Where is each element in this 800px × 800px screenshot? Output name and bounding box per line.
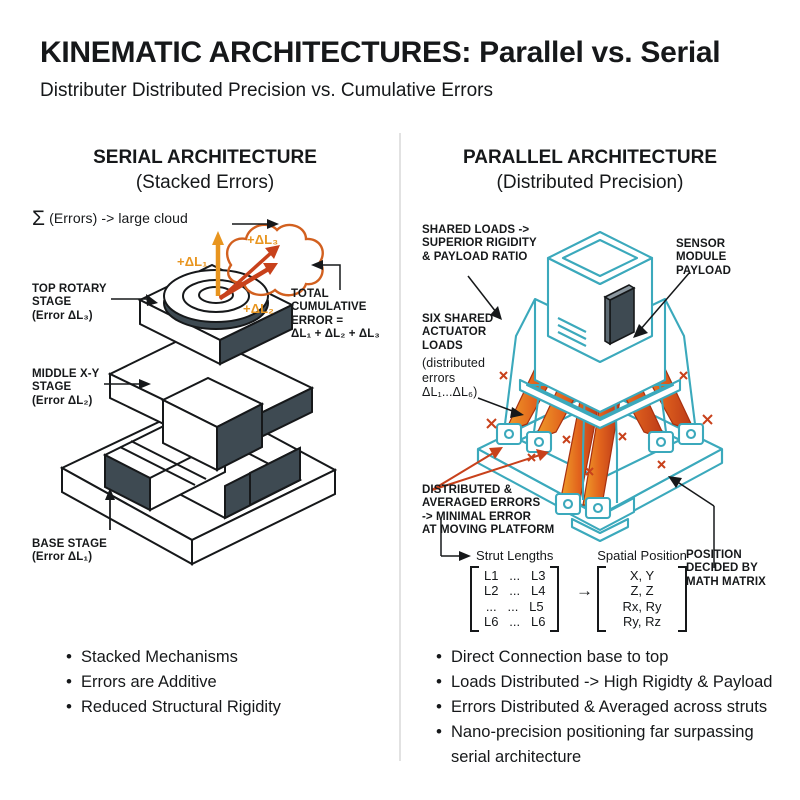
sensor-module-label: SENSOR MODULE PAYLOAD [676, 238, 776, 278]
strut-matrix-caption: Strut Lengths [470, 548, 559, 564]
sensor-module-line2: MODULE [676, 251, 776, 264]
bracket-left [470, 566, 479, 632]
matrix-row: X, Y [611, 568, 673, 584]
strut-lengths-matrix: Strut Lengths L1 ... L3 L2 ... L4 ... ..… [470, 548, 559, 635]
matrix-row: Ry, Rz [611, 614, 673, 630]
distributed-errors-line3: -> MINIMAL ERROR [422, 511, 582, 524]
bracket-right [550, 566, 559, 632]
actuator-loads-line3: LOADS [422, 340, 517, 353]
list-item: Loads Distributed -> High Rigidty & Payl… [451, 670, 782, 695]
actuator-sub-line2: errors [422, 371, 517, 386]
actuator-loads-line2: ACTUATOR [422, 326, 517, 339]
position-note-line1: POSITION [686, 549, 786, 562]
shared-loads-label: SHARED LOADS -> SUPERIOR RIGIDITY & PAYL… [422, 224, 557, 264]
distributed-errors-label: DISTRIBUTED & AVERAGED ERRORS -> MINIMAL… [422, 484, 582, 538]
distributed-errors-line1: DISTRIBUTED & [422, 484, 582, 497]
matrix-row: Z, Z [611, 583, 673, 599]
sensor-module-line1: SENSOR [676, 238, 776, 251]
actuator-loads-label: SIX SHARED ACTUATOR LOADS [422, 313, 517, 353]
list-item: Errors Distributed & Averaged across str… [451, 695, 782, 720]
position-note-line2: DECIDED BY [686, 562, 786, 575]
matrix-row: ... ... L5 [484, 599, 545, 615]
shared-loads-line2: SUPERIOR RIGIDITY [422, 237, 557, 250]
matrix-transform-arrow: → [576, 583, 593, 599]
distributed-errors-line4: AT MOVING PLATFORM [422, 524, 582, 537]
bracket-left [597, 566, 606, 632]
sensor-module-line3: PAYLOAD [676, 265, 776, 278]
shared-loads-line1: SHARED LOADS -> [422, 224, 557, 237]
actuator-sub-line3: ΔL₁...ΔL₆) [422, 385, 517, 400]
position-note-line3: MATH MATRIX [686, 576, 786, 589]
shared-loads-line3: & PAYLOAD RATIO [422, 251, 557, 264]
matrix-row: L1 ... L3 [484, 568, 545, 584]
diagram-page: KINEMATIC ARCHITECTURES: Parallel vs. Se… [0, 0, 800, 800]
actuator-loads-line1: SIX SHARED [422, 313, 517, 326]
actuator-loads-sublabel: (distributed errors ΔL₁...ΔL₆) [422, 356, 517, 400]
spatial-position-matrix: Spatial Position X, Y Z, Z Rx, Ry Ry, Rz [597, 548, 687, 635]
matrix-row: Rx, Ry [611, 599, 673, 615]
list-item: Direct Connection base to top [451, 645, 782, 670]
actuator-sub-line1: (distributed [422, 356, 517, 371]
position-math-label: POSITION DECIDED BY MATH MATRIX [686, 549, 786, 589]
matrix-row: L2 ... L4 [484, 583, 545, 599]
spatial-matrix-caption: Spatial Position [597, 548, 687, 564]
distributed-errors-line2: AVERAGED ERRORS [422, 497, 582, 510]
parallel-bullets: Direct Connection base to top Loads Dist… [432, 645, 782, 770]
bracket-right [678, 566, 687, 632]
list-item: Nano-precision positioning far surpassin… [451, 720, 782, 770]
matrix-row: L6 ... L6 [484, 614, 545, 630]
